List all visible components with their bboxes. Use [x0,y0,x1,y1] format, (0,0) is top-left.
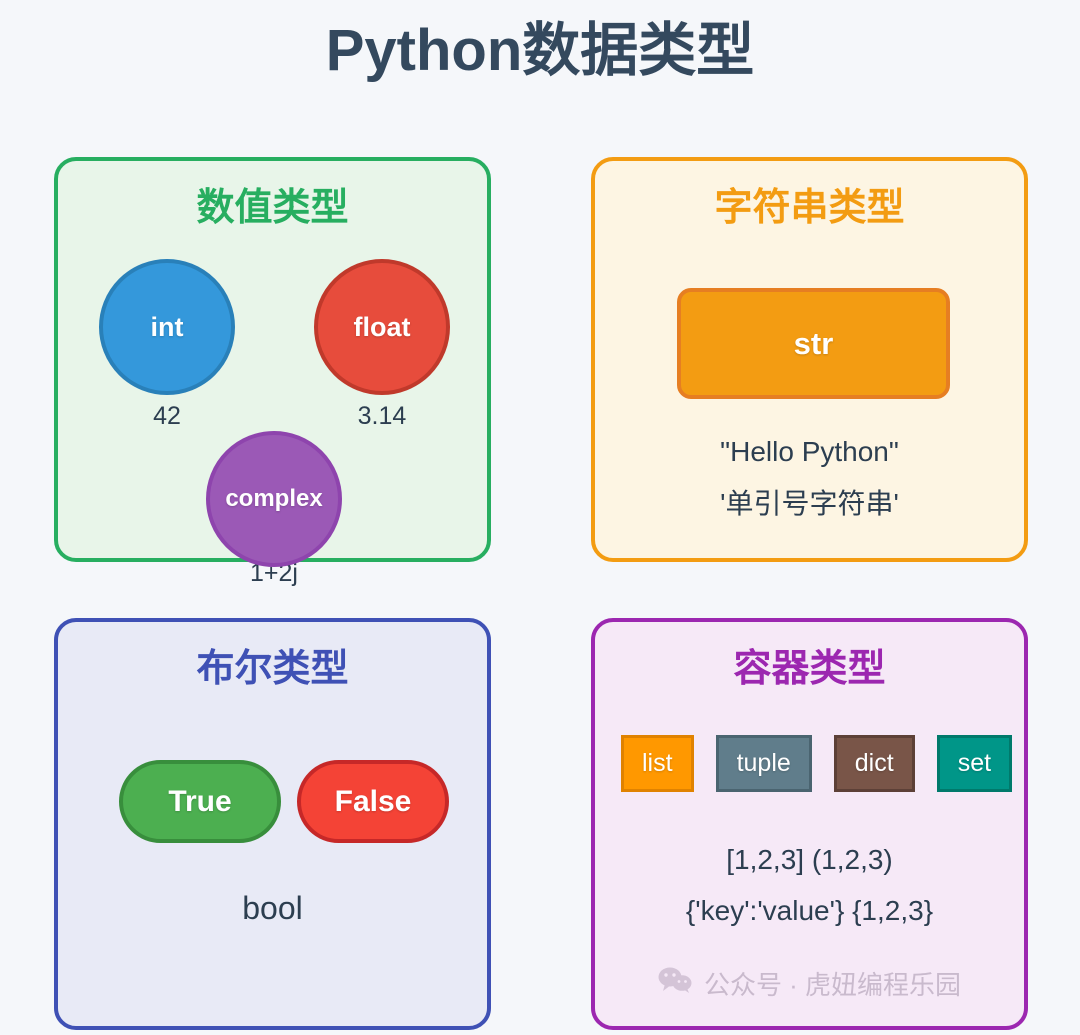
type-bubble-float[interactable]: float [314,259,450,395]
container-chip-list[interactable]: list [621,735,694,792]
type-example-int: 42 [99,404,235,429]
container-chip-dict[interactable]: dict [834,735,915,792]
type-bubble-int[interactable]: int [99,259,235,395]
container-chip-tuple-label: tuple [737,749,791,778]
wechat-icon [658,967,692,1000]
type-bubble-complex-label: complex [225,485,322,513]
bool-type-name: bool [58,890,487,927]
watermark: 公众号 · 虎妞编程乐园 [595,965,1024,1002]
container-example-dict-set: {'key':'value'} {1,2,3} [595,896,1024,927]
bool-pill-true[interactable]: True [119,760,281,843]
card-string-heading: 字符串类型 [595,188,1024,230]
card-container-heading: 容器类型 [595,649,1024,691]
container-chip-tuple[interactable]: tuple [716,735,812,792]
card-numeric-types: 数值类型 int 42 float 3.14 complex 1+2j [54,157,491,562]
string-example-double-quoted: "Hello Python" [595,437,1024,468]
card-boolean-types: 布尔类型 True False bool [54,618,491,1030]
container-chip-dict-label: dict [855,749,894,778]
type-bubble-complex[interactable]: complex [206,431,342,567]
card-container-types: 容器类型 list tuple dict set [1,2,3] (1,2,3)… [591,618,1028,1030]
type-box-str-label: str [794,326,834,362]
card-numeric-heading: 数值类型 [58,188,487,230]
type-box-str[interactable]: str [677,288,950,399]
container-chip-list-label: list [642,749,673,778]
infographic-page: Python数据类型 数值类型 int 42 float 3.14 comple… [0,0,1080,1035]
container-chip-row: list tuple dict set [621,735,1012,792]
type-bubble-float-label: float [354,312,411,343]
container-chip-set[interactable]: set [937,735,1012,792]
bool-pill-false[interactable]: False [297,760,449,843]
container-chip-set-label: set [958,749,991,778]
string-example-single-quoted: '单引号字符串' [595,489,1024,520]
container-example-list-tuple: [1,2,3] (1,2,3) [595,845,1024,876]
bool-pill-false-label: False [335,785,412,819]
bool-pill-true-label: True [168,785,231,819]
type-bubble-int-label: int [151,312,184,343]
card-string-types: 字符串类型 str "Hello Python" '单引号字符串' [591,157,1028,562]
watermark-text: 公众号 · 虎妞编程乐园 [704,965,961,1002]
card-boolean-heading: 布尔类型 [58,649,487,691]
page-title: Python数据类型 [0,18,1080,85]
type-example-float: 3.14 [314,404,450,429]
